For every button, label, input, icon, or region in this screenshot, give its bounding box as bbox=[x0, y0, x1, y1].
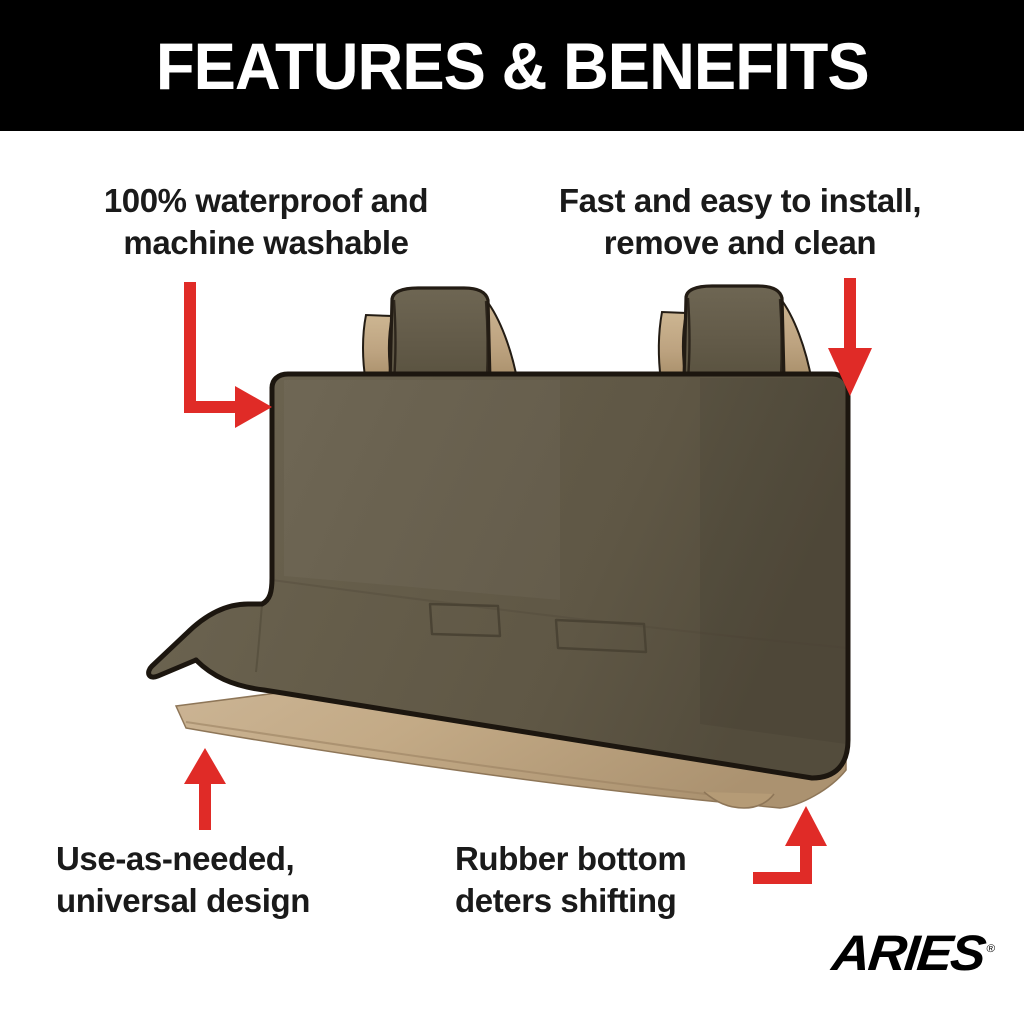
callout-install: Fast and easy to install, remove and cle… bbox=[512, 180, 968, 263]
callout-waterproof-line2: machine washable bbox=[36, 222, 496, 264]
registered-trademark-icon: ® bbox=[986, 944, 994, 955]
callout-install-line2: remove and clean bbox=[512, 222, 968, 264]
headrest-left-cover bbox=[390, 288, 490, 382]
cover-shadow-right bbox=[700, 378, 846, 744]
headrest-right-cover bbox=[684, 286, 784, 380]
callout-universal-line2: universal design bbox=[56, 880, 436, 922]
brand-logo-wordmark: ARIES® bbox=[830, 928, 995, 978]
cover-highlight-left bbox=[284, 380, 560, 600]
callout-install-line1: Fast and easy to install, bbox=[512, 180, 968, 222]
brand-logo: ARIES® bbox=[768, 924, 988, 978]
headrest-right-tan-left bbox=[659, 312, 686, 381]
brand-logo-name: ARIES bbox=[830, 925, 987, 981]
headrest-left-group bbox=[363, 288, 518, 384]
headrest-right-group bbox=[659, 286, 812, 382]
callout-waterproof: 100% waterproof and machine washable bbox=[36, 180, 496, 263]
callout-waterproof-line1: 100% waterproof and bbox=[36, 180, 496, 222]
callout-universal-line1: Use-as-needed, bbox=[56, 838, 436, 880]
infographic-page: FEATURES & BENEFITS bbox=[0, 0, 1024, 1024]
callout-universal: Use-as-needed, universal design bbox=[56, 838, 436, 921]
callout-rubber-line2: deters shifting bbox=[455, 880, 815, 922]
callout-rubber-line1: Rubber bottom bbox=[455, 838, 815, 880]
callout-rubber: Rubber bottom deters shifting bbox=[455, 838, 815, 921]
